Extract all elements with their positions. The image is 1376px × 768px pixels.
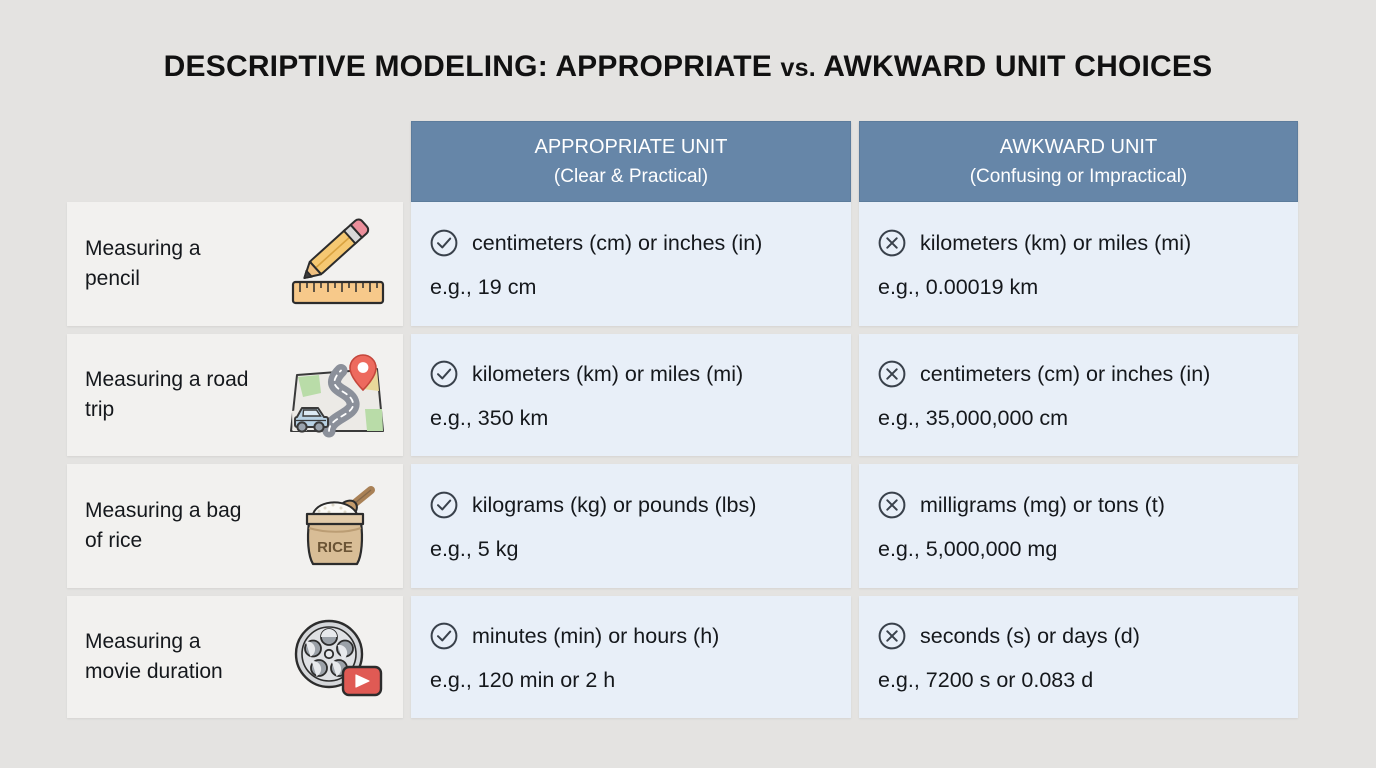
appropriate-example-text: e.g., 19 cm [429,274,835,300]
appropriate-unit-text: kilograms (kg) or pounds (lbs) [472,492,756,518]
column-header-appropriate-unit: APPROPRIATE UNIT (Clear & Practical) [411,121,851,202]
check-circle-icon [429,621,459,651]
awkward-unit-line: centimeters (cm) or inches (in) [877,359,1282,389]
cell-appropriate-movie-duration: minutes (min) or hours (h) e.g., 120 min… [411,596,851,718]
appropriate-example-text: e.g., 350 km [429,405,835,431]
awkward-unit-line: milligrams (mg) or tons (t) [877,490,1282,520]
page-title-part-1: DESCRIPTIVE MODELING: APPROPRIATE [164,50,781,83]
page-title-vs: vs. [781,54,816,82]
table-row-label-pencil: Measuring a pencil [67,202,403,326]
x-circle-icon [877,490,907,520]
cell-awkward-road-trip: centimeters (cm) or inches (in) e.g., 35… [859,334,1298,456]
appropriate-unit-text: minutes (min) or hours (h) [472,623,719,649]
column-header-appropriate-title: APPROPRIATE UNIT [535,133,728,162]
appropriate-unit-text: kilometers (km) or miles (mi) [472,361,743,387]
page-title-part-2: AWKWARD UNIT CHOICES [816,50,1212,83]
column-header-awkward-unit: AWKWARD UNIT (Confusing or Impractical) [859,121,1298,202]
cell-awkward-movie-duration: seconds (s) or days (d) e.g., 7200 s or … [859,596,1298,718]
awkward-unit-text: milligrams (mg) or tons (t) [920,492,1165,518]
table-row-label-bag-of-rice: Measuring a bag of rice RICE [67,464,403,588]
column-header-awkward-title: AWKWARD UNIT [1000,133,1157,162]
row-label-text: Measuring a bag of rice [85,496,260,556]
road-map-with-car-icon [285,347,389,443]
rice-sack-icon: RICE [285,478,389,574]
rice-sack-label: RICE [317,539,353,556]
awkward-example-text: e.g., 7200 s or 0.083 d [877,667,1282,693]
awkward-unit-text: seconds (s) or days (d) [920,623,1140,649]
x-circle-icon [877,359,907,389]
awkward-unit-line: seconds (s) or days (d) [877,621,1282,651]
table-row-label-movie-duration: Measuring a movie duration [67,596,403,718]
row-label-text: Measuring a movie duration [85,627,260,687]
film-reel-with-play-button-icon [285,609,389,705]
appropriate-example-text: e.g., 120 min or 2 h [429,667,835,693]
awkward-unit-text: centimeters (cm) or inches (in) [920,361,1210,387]
awkward-example-text: e.g., 35,000,000 cm [877,405,1282,431]
awkward-unit-text: kilometers (km) or miles (mi) [920,230,1191,256]
cell-awkward-pencil: kilometers (km) or miles (mi) e.g., 0.00… [859,202,1298,326]
awkward-example-text: e.g., 0.00019 km [877,274,1282,300]
row-label-text: Measuring a pencil [85,234,260,294]
check-circle-icon [429,228,459,258]
appropriate-unit-line: minutes (min) or hours (h) [429,621,835,651]
cell-appropriate-road-trip: kilometers (km) or miles (mi) e.g., 350 … [411,334,851,456]
cell-appropriate-bag-of-rice: kilograms (kg) or pounds (lbs) e.g., 5 k… [411,464,851,588]
comparison-table: APPROPRIATE UNIT (Clear & Practical) AWK… [67,121,1298,726]
appropriate-unit-line: centimeters (cm) or inches (in) [429,228,835,258]
column-header-appropriate-subtitle: (Clear & Practical) [554,162,708,191]
column-header-awkward-subtitle: (Confusing or Impractical) [970,162,1188,191]
cell-appropriate-pencil: centimeters (cm) or inches (in) e.g., 19… [411,202,851,326]
page-title: DESCRIPTIVE MODELING: APPROPRIATE vs. AW… [0,50,1376,84]
check-circle-icon [429,490,459,520]
x-circle-icon [877,228,907,258]
awkward-unit-line: kilometers (km) or miles (mi) [877,228,1282,258]
table-row-label-road-trip: Measuring a road trip [67,334,403,456]
row-label-text: Measuring a road trip [85,365,260,425]
appropriate-unit-line: kilometers (km) or miles (mi) [429,359,835,389]
cell-awkward-bag-of-rice: milligrams (mg) or tons (t) e.g., 5,000,… [859,464,1298,588]
pencil-and-ruler-icon [285,216,389,312]
awkward-example-text: e.g., 5,000,000 mg [877,536,1282,562]
x-circle-icon [877,621,907,651]
check-circle-icon [429,359,459,389]
appropriate-unit-line: kilograms (kg) or pounds (lbs) [429,490,835,520]
appropriate-unit-text: centimeters (cm) or inches (in) [472,230,762,256]
table-corner-cell [67,121,403,202]
appropriate-example-text: e.g., 5 kg [429,536,835,562]
